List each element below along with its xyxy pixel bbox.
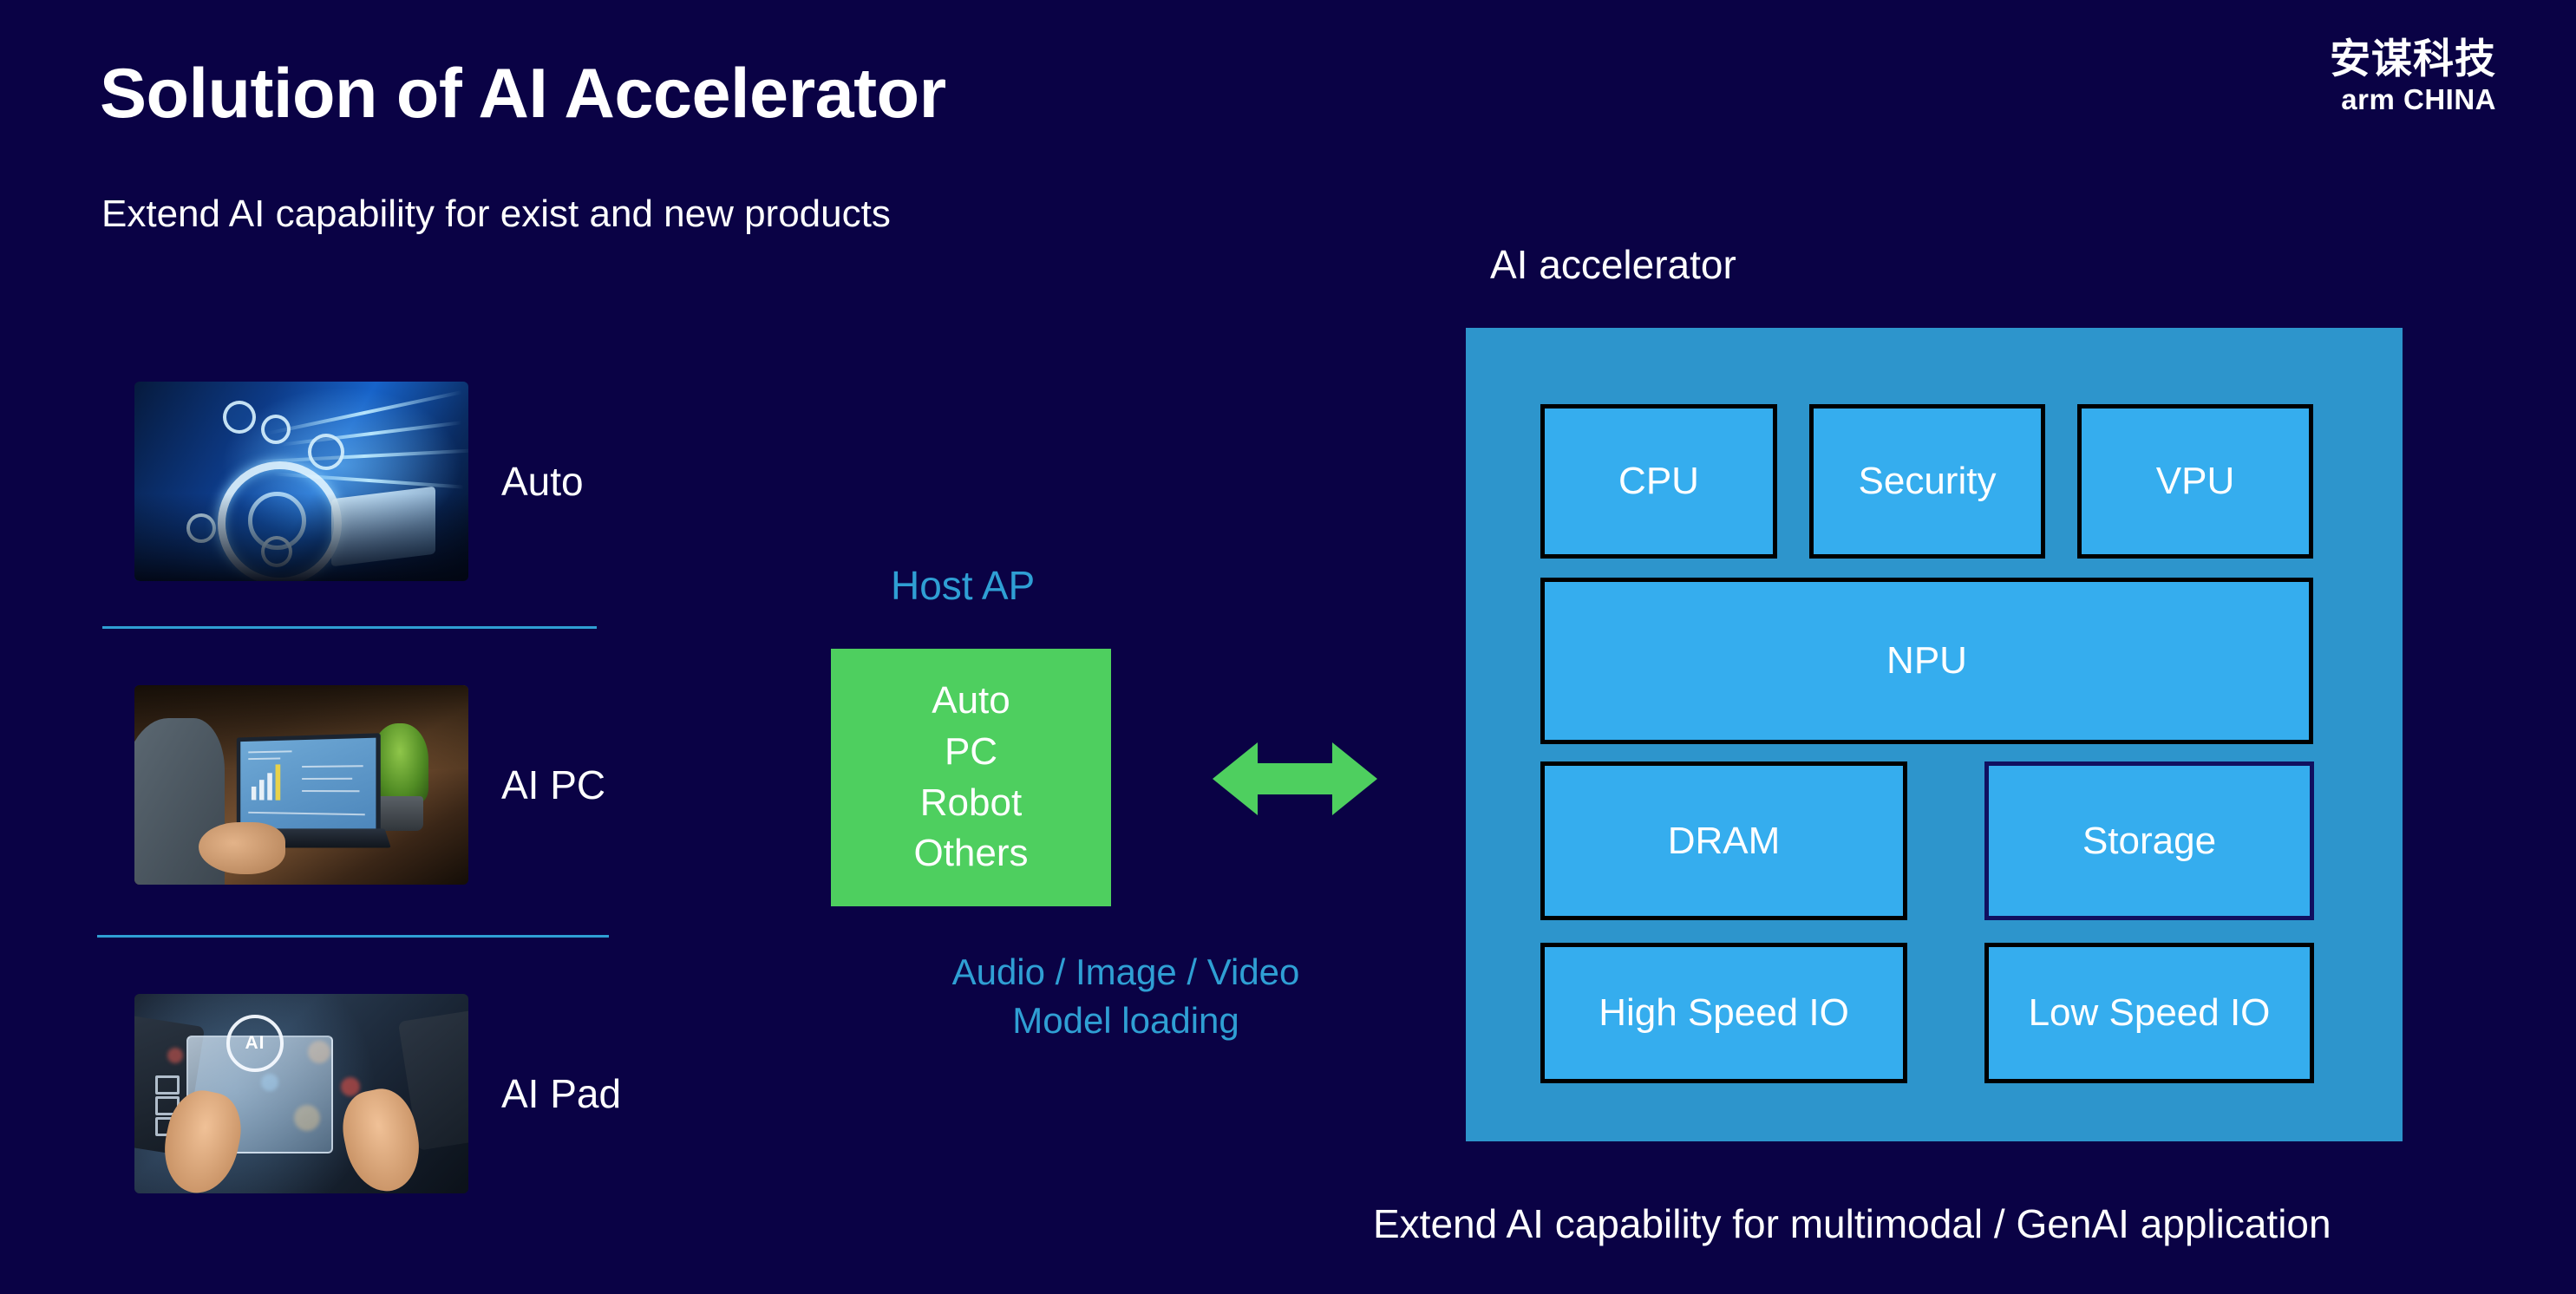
page-title: Solution of AI Accelerator: [100, 54, 946, 134]
double-arrow-icon: [1213, 739, 1377, 819]
product-label-ai-pad: AI Pad: [501, 1070, 621, 1117]
page-subtitle: Extend AI capability for exist and new p…: [101, 193, 891, 236]
tablet-ai-artwork: AI: [134, 994, 468, 1193]
product-item-ai-pad: AI AI Pad: [134, 994, 621, 1193]
host-item-others: Others: [913, 828, 1028, 879]
host-ap-box: Auto PC Robot Others: [831, 649, 1111, 906]
ai-pad-thumbnail: AI: [134, 994, 468, 1193]
caption-line-1: Audio / Image / Video: [892, 948, 1360, 997]
product-label-auto: Auto: [501, 458, 584, 505]
host-item-auto: Auto: [932, 676, 1010, 727]
accelerator-panel: CPU Security VPU NPU DRAM Storage High S…: [1466, 328, 2403, 1141]
slide-canvas: Solution of AI Accelerator Extend AI cap…: [0, 0, 2576, 1294]
accel-block-security: Security: [1809, 404, 2045, 559]
accel-block-high-speed-io: High Speed IO: [1540, 943, 1907, 1083]
product-label-ai-pc: AI PC: [501, 761, 605, 808]
ai-pc-thumbnail: [134, 685, 468, 885]
accel-block-low-speed-io: Low Speed IO: [1984, 943, 2314, 1083]
host-item-pc: PC: [945, 727, 997, 778]
auto-cockpit-artwork: [134, 382, 468, 581]
accel-block-storage: Storage: [1984, 761, 2314, 920]
ai-badge-icon: AI: [226, 1015, 284, 1072]
logo-arm-word: arm: [2341, 83, 2395, 115]
accel-block-vpu: VPU: [2077, 404, 2313, 559]
accel-block-npu: NPU: [1540, 578, 2313, 744]
accel-block-dram: DRAM: [1540, 761, 1907, 920]
logo-english-text: arm CHINA: [2330, 84, 2496, 115]
host-item-robot: Robot: [920, 778, 1022, 829]
caption-line-2: Model loading: [892, 997, 1360, 1045]
bottom-caption: Extend AI capability for multimodal / Ge…: [1373, 1200, 2331, 1247]
auto-thumbnail: [134, 382, 468, 581]
product-item-auto: Auto: [134, 382, 584, 581]
logo-chinese-text: 安谋科技: [2330, 38, 2496, 81]
logo-china-word: CHINA: [2403, 83, 2496, 115]
accel-block-cpu: CPU: [1540, 404, 1777, 559]
arm-china-logo: 安谋科技 arm CHINA: [2330, 38, 2496, 116]
divider-2: [97, 935, 609, 938]
accelerator-title: AI accelerator: [1490, 241, 1736, 288]
divider-1: [102, 626, 597, 629]
product-item-ai-pc: AI PC: [134, 685, 605, 885]
host-ap-title: Host AP: [891, 562, 1035, 609]
host-ap-caption: Audio / Image / Video Model loading: [892, 948, 1360, 1045]
laptop-analytics-artwork: [134, 685, 468, 885]
